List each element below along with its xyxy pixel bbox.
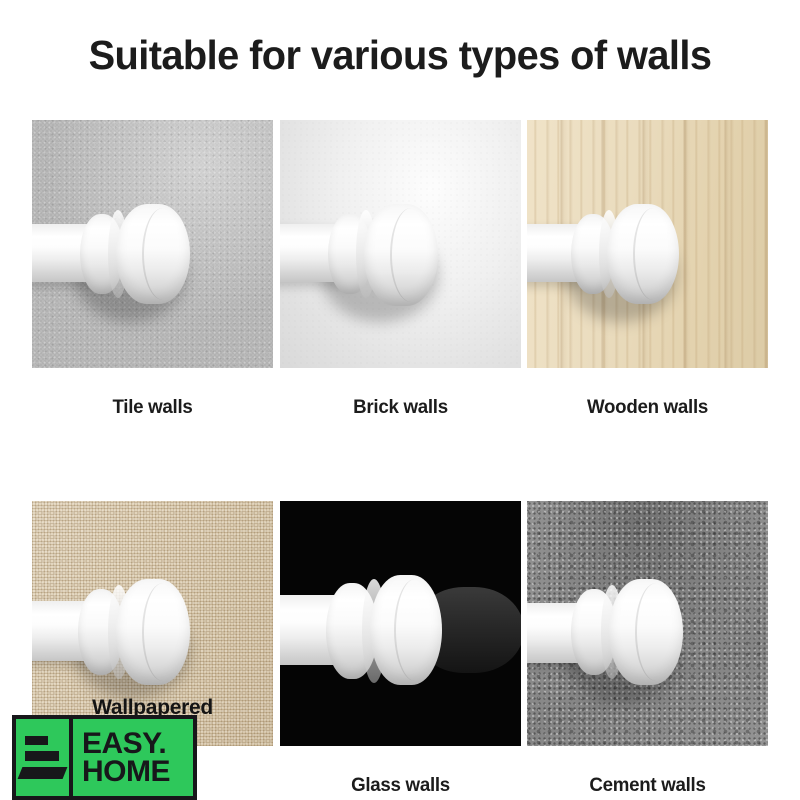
caption-tile-walls: Tile walls xyxy=(37,396,268,419)
flange-rim-line xyxy=(633,208,673,300)
curtain-rod-assembly xyxy=(527,575,713,695)
flange-rim-line xyxy=(142,208,184,300)
caption-glass-walls: Glass walls xyxy=(284,774,515,797)
photo-wooden-walls xyxy=(527,120,768,368)
photo-tile-walls xyxy=(32,120,273,368)
wall-type-cell-brick: Brick walls xyxy=(280,120,521,419)
wall-type-cell-wooden: Wooden walls xyxy=(527,120,768,419)
wall-type-cell-glass: Glass walls xyxy=(280,501,521,797)
logo-bar-top xyxy=(25,736,48,745)
flange-rim-line xyxy=(394,579,436,681)
logo-line-home: HOME xyxy=(82,758,193,786)
photo-glass-walls xyxy=(280,501,521,746)
logo-wordmark: EASY. HOME xyxy=(73,719,193,796)
photo-brick-walls xyxy=(280,120,521,368)
wall-type-row: Tile walls Brick walls xyxy=(32,120,768,419)
curtain-rod-assembly xyxy=(280,573,521,693)
flange-rim-line xyxy=(390,208,432,302)
page-title: Suitable for various types of walls xyxy=(12,32,788,79)
photo-wallpapered: Wallpapered xyxy=(32,501,273,746)
caption-wooden-walls: Wooden walls xyxy=(532,396,763,419)
logo-mark-icon xyxy=(16,719,73,796)
caption-cement-walls: Cement walls xyxy=(532,774,763,797)
brand-logo: EASY. HOME xyxy=(12,715,197,800)
wall-type-cell-cement: Cement walls xyxy=(527,501,768,797)
caption-brick-walls: Brick walls xyxy=(284,396,515,419)
logo-bar-middle xyxy=(25,751,59,761)
logo-bar-bottom xyxy=(18,767,68,779)
flange-rim-line xyxy=(142,583,184,681)
wall-type-grid: Tile walls Brick walls xyxy=(32,120,768,797)
curtain-rod-assembly xyxy=(280,200,466,320)
photo-cement-walls xyxy=(527,501,768,746)
flange-rim-line xyxy=(635,583,677,681)
product-infographic: Suitable for various types of walls xyxy=(0,0,800,800)
curtain-rod-assembly xyxy=(527,198,715,318)
curtain-rod-assembly xyxy=(32,573,220,693)
curtain-rod-assembly xyxy=(32,198,222,318)
wall-type-cell-tile: Tile walls xyxy=(32,120,273,419)
logo-line-easy: EASY. xyxy=(82,730,193,758)
